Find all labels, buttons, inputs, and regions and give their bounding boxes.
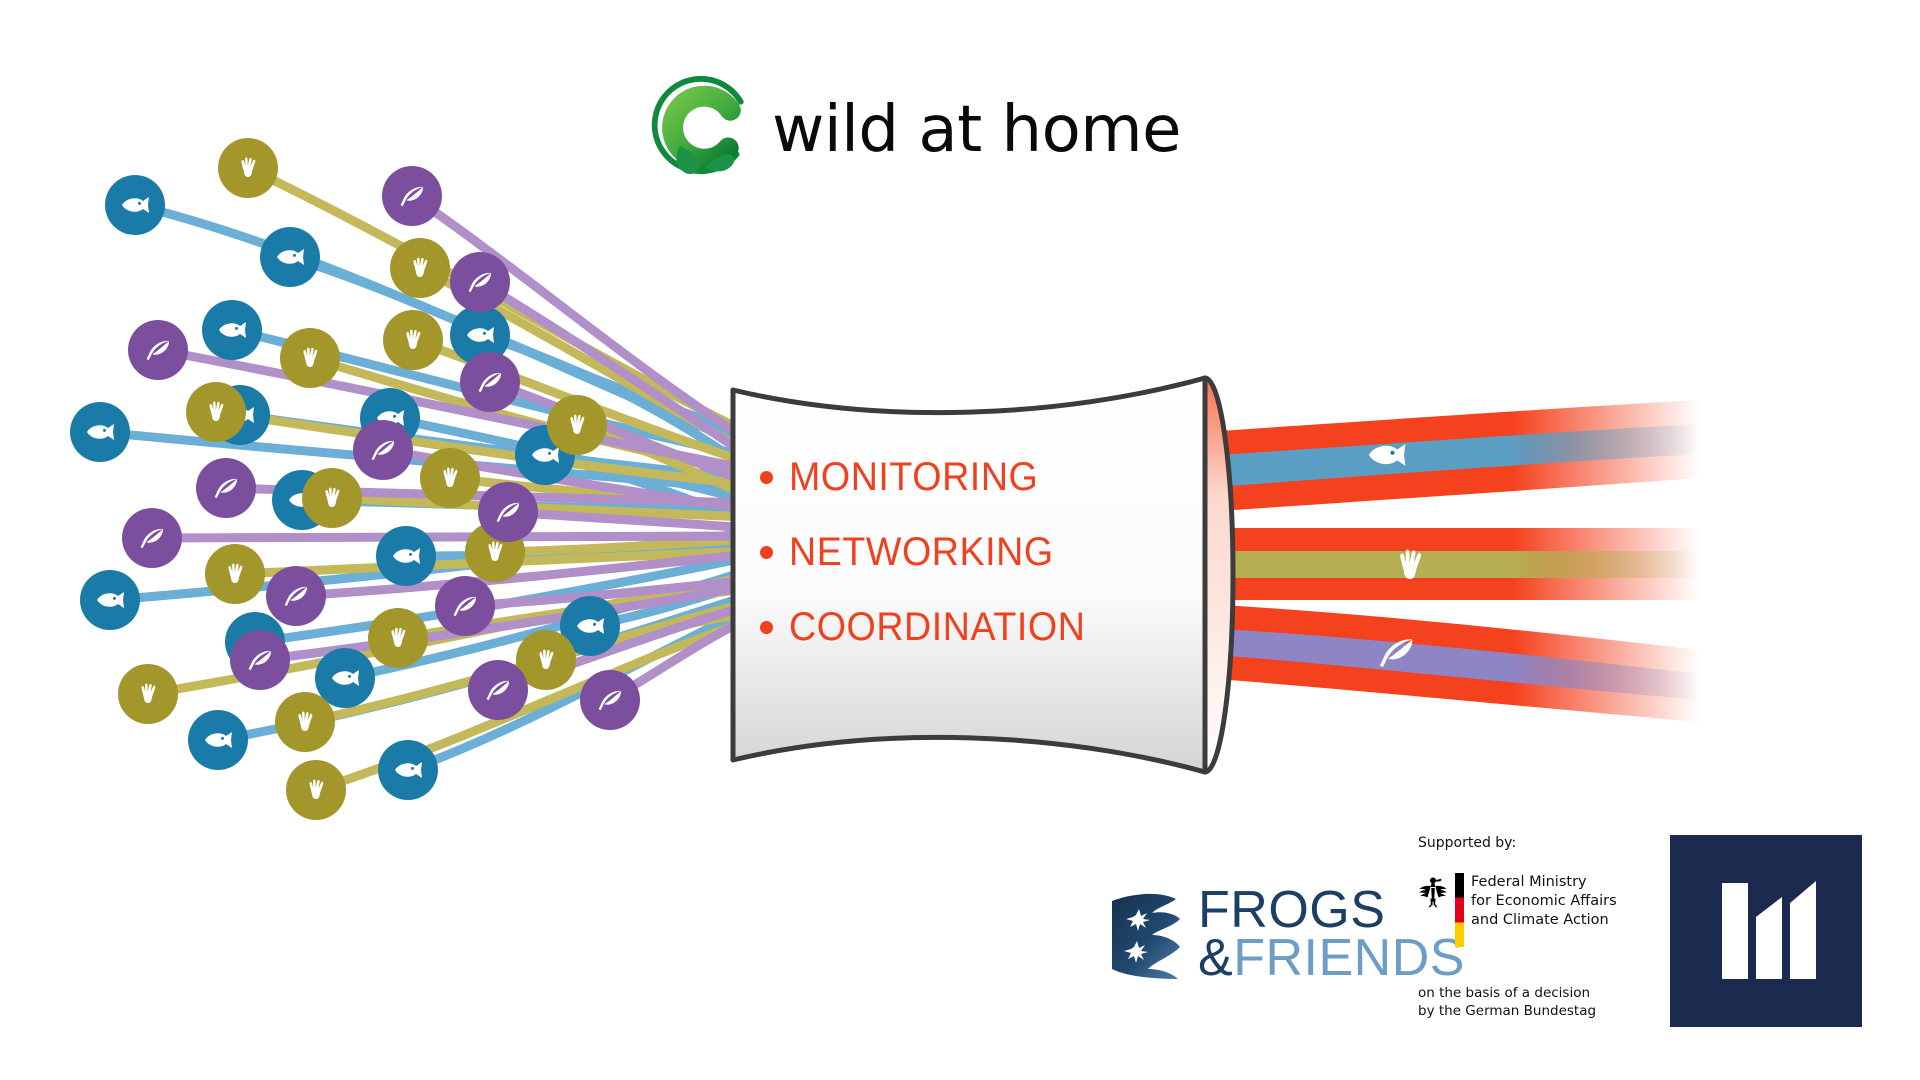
decision-basis-note: on the basis of a decision by the German… — [1418, 985, 1678, 1020]
bullet-icon — [760, 546, 773, 559]
brand-header: wild at home — [640, 62, 1181, 192]
ministry-name-line-2: for Economic Affairs — [1471, 892, 1617, 911]
brand-wordmark: wild at home — [772, 98, 1181, 162]
wild-at-home-c-swirl-logo — [640, 64, 766, 190]
funnel-label-networking: NETWORKING — [789, 530, 1054, 575]
ministry-name-line-3: and Climate Action — [1471, 911, 1617, 930]
funnel-item-coordination: COORDINATION — [760, 605, 1190, 650]
ministry-name: Federal Ministry for Economic Affairs an… — [1471, 873, 1617, 930]
ministry-row: Federal Ministry for Economic Affairs an… — [1418, 873, 1678, 947]
bullet-icon — [760, 621, 773, 634]
funnel-label-coordination: COORDINATION — [789, 605, 1085, 650]
output-beam-feather — [1205, 604, 1700, 722]
decision-basis-line-1: on the basis of a decision — [1418, 985, 1678, 1003]
infographic-canvas: wild at home MONITORING NETWORKING COORD… — [0, 0, 1920, 1080]
input-node-group — [70, 138, 640, 820]
decision-basis-line-2: by the German Bundestag — [1418, 1003, 1678, 1021]
output-beam-fish — [1205, 400, 1700, 512]
footer-logo-bar: FROGS &FRIENDS Supported by: — [1100, 835, 1900, 1080]
german-federal-eagle-icon — [1418, 874, 1448, 908]
output-beam-frog — [1205, 528, 1700, 600]
funnel-label-monitoring: MONITORING — [789, 455, 1038, 500]
three-bars-navy-logo — [1670, 835, 1862, 1027]
funnel-service-list: MONITORING NETWORKING COORDINATION — [760, 455, 1190, 680]
german-flag-bar — [1455, 873, 1464, 947]
funnel-item-monitoring: MONITORING — [760, 455, 1190, 500]
frogs-and-friends-frog-head-logo — [1106, 889, 1188, 981]
ministry-name-line-1: Federal Ministry — [1471, 873, 1617, 892]
output-beam-group — [1205, 400, 1700, 722]
three-bars-icon — [1670, 835, 1862, 1027]
frogs-and-friends-logo: FROGS &FRIENDS — [1106, 887, 1465, 983]
bullet-icon — [760, 471, 773, 484]
ff-ampersand: & — [1198, 929, 1233, 987]
funnel-item-networking: NETWORKING — [760, 530, 1190, 575]
supported-by-label: Supported by: — [1418, 835, 1678, 851]
federal-ministry-logo-block: Supported by: — [1418, 835, 1678, 1020]
